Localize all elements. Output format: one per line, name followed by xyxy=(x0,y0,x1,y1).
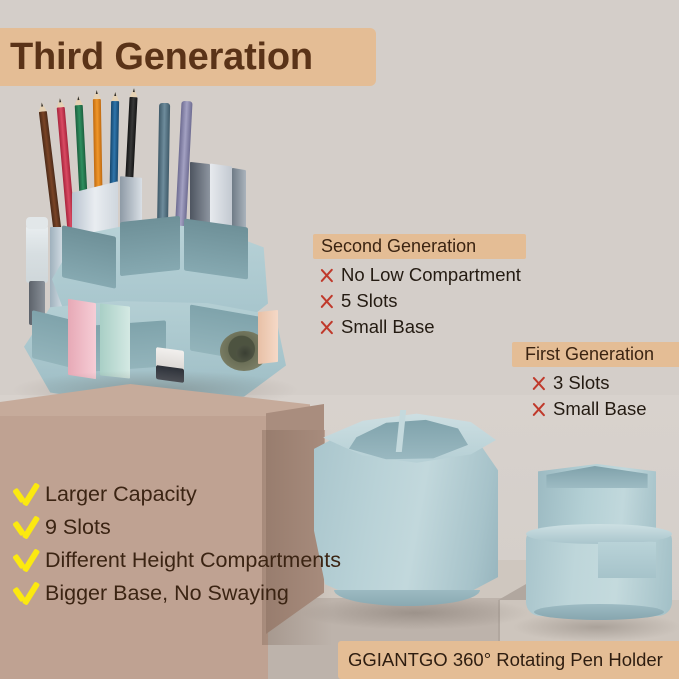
list-item: Small Base xyxy=(316,314,521,340)
list-item: 5 Slots xyxy=(316,288,521,314)
list-item-label: 3 Slots xyxy=(553,372,610,394)
list-item: 3 Slots xyxy=(528,370,647,396)
check-icon xyxy=(10,512,41,543)
cross-icon xyxy=(528,399,549,420)
hourglass-cap xyxy=(26,217,48,229)
list-item: No Low Compartment xyxy=(316,262,521,288)
list-item-label: Small Base xyxy=(553,398,647,420)
list-item-label: 9 Slots xyxy=(45,515,111,540)
tape-roll-core xyxy=(236,345,254,361)
list-item: Larger Capacity xyxy=(10,478,341,511)
product-image-first-generation xyxy=(516,458,679,630)
sticky-pad-pink xyxy=(68,299,96,379)
check-icon xyxy=(10,545,41,576)
compartment-upper-3 xyxy=(184,219,248,280)
compartment-upper-2 xyxy=(120,216,180,276)
list-item-label: No Low Compartment xyxy=(341,264,521,286)
product-name-caption: GGIANTGO 360° Rotating Pen Holder xyxy=(338,641,679,679)
second-gen-base xyxy=(334,590,480,606)
cross-icon xyxy=(316,291,337,312)
badge-first-generation: First Generation xyxy=(512,342,679,367)
first-gen-step xyxy=(598,542,656,578)
pros-list-third-generation: Larger Capacity 9 Slots Different Height… xyxy=(10,478,341,610)
cross-icon xyxy=(316,265,337,286)
list-item: Small Base xyxy=(528,396,647,422)
list-item-label: Bigger Base, No Swaying xyxy=(45,581,289,606)
list-item: Bigger Base, No Swaying xyxy=(10,577,341,610)
infographic-canvas: Third Generation Second Generation No Lo… xyxy=(0,0,679,679)
list-item: 9 Slots xyxy=(10,511,341,544)
page-title: Third Generation xyxy=(0,28,376,86)
first-gen-base xyxy=(534,604,664,620)
cons-list-second-generation: No Low Compartment 5 Slots Small Base xyxy=(316,262,521,340)
list-item: Different Height Compartments xyxy=(10,544,341,577)
first-gen-rim xyxy=(526,524,672,544)
sticky-pad-mint xyxy=(100,303,130,378)
pen-teal xyxy=(157,103,170,235)
cons-list-first-generation: 3 Slots Small Base xyxy=(528,370,647,422)
hourglass-tool xyxy=(26,225,48,283)
list-item-label: Small Base xyxy=(341,316,435,338)
tape-roll-beige xyxy=(258,310,278,364)
check-icon xyxy=(10,479,41,510)
cross-icon xyxy=(528,373,549,394)
product-image-third-generation xyxy=(10,105,300,405)
list-item-label: Different Height Compartments xyxy=(45,548,341,573)
check-icon xyxy=(10,578,41,609)
list-item-label: Larger Capacity xyxy=(45,482,197,507)
list-item-label: 5 Slots xyxy=(341,290,398,312)
badge-second-generation: Second Generation xyxy=(313,234,526,259)
cross-icon xyxy=(316,317,337,338)
